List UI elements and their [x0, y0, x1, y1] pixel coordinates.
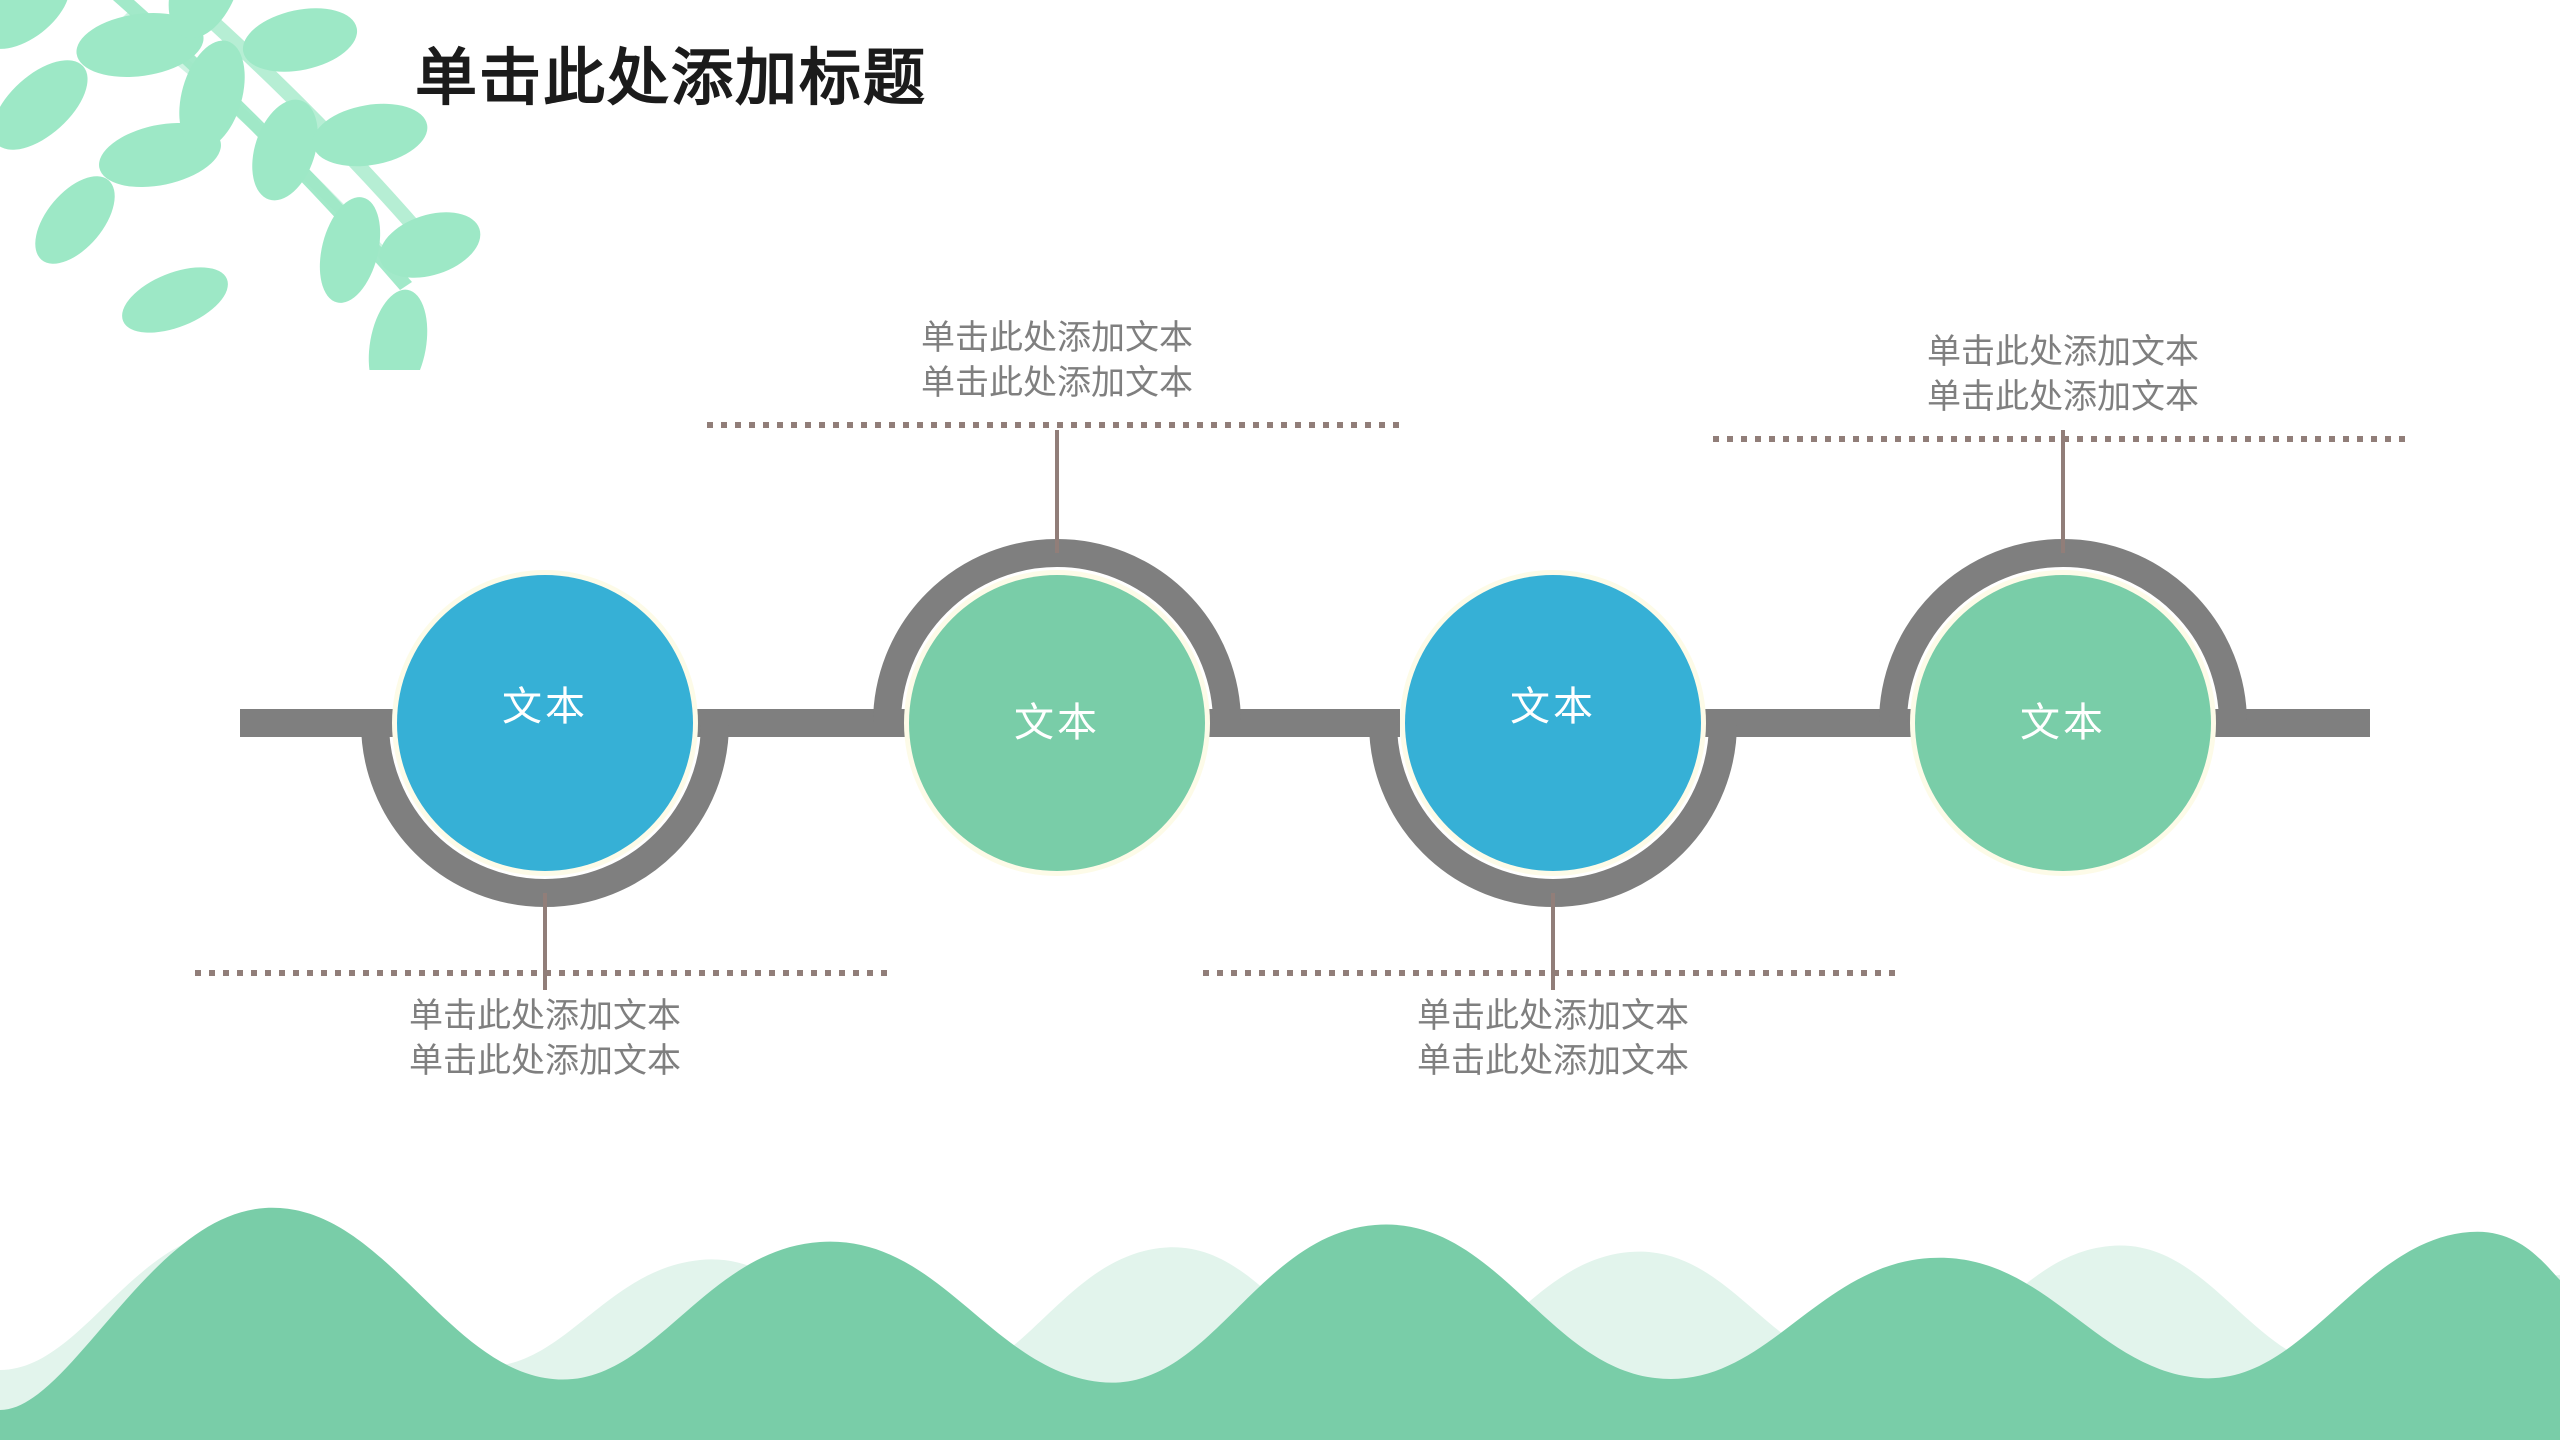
node-label-1: 文本: [502, 687, 588, 727]
callout-line: 单击此处添加文本: [1713, 330, 2413, 375]
page-title: 单击此处添加标题: [415, 45, 927, 113]
callout-line: 单击此处添加文本: [195, 994, 895, 1039]
callout-line: 单击此处添加文本: [195, 1039, 895, 1084]
callout-dotted-rule: [707, 422, 1407, 428]
callout-node-4: 单击此处添加文本 单击此处添加文本: [1713, 330, 2413, 442]
callout-node-2: 单击此处添加文本 单击此处添加文本: [707, 316, 1407, 428]
callout-dotted-rule: [195, 970, 895, 976]
slide-canvas: 单击此处添加标题: [0, 0, 2560, 1440]
process-diagram: [0, 430, 2560, 990]
callout-node-3: 单击此处添加文本 单击此处添加文本: [1203, 970, 1903, 1084]
node-label-3: 文本: [1510, 687, 1596, 727]
callout-line: 单击此处添加文本: [1713, 375, 2413, 420]
callout-line: 单击此处添加文本: [1203, 994, 1903, 1039]
node-label-4: 文本: [2020, 703, 2106, 743]
callout-dotted-rule: [1713, 436, 2413, 442]
node-label-2: 文本: [1014, 703, 1100, 743]
callout-node-1: 单击此处添加文本 单击此处添加文本: [195, 970, 895, 1084]
callout-line: 单击此处添加文本: [1203, 1039, 1903, 1084]
callout-dotted-rule: [1203, 970, 1903, 976]
mountain-waves-icon: [0, 1120, 2560, 1440]
callout-line: 单击此处添加文本: [707, 361, 1407, 406]
callout-line: 单击此处添加文本: [707, 316, 1407, 361]
